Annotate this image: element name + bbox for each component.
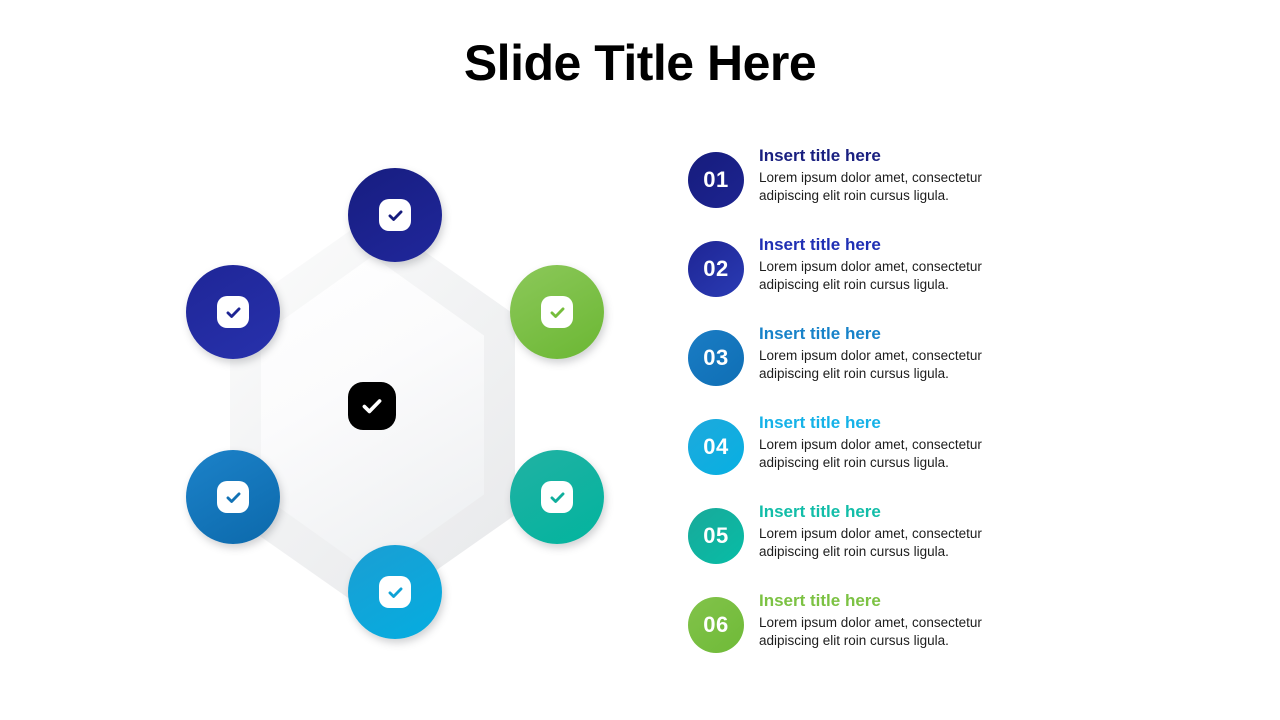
- item-title: Insert title here: [759, 145, 1044, 166]
- item-title: Insert title here: [759, 323, 1044, 344]
- item-title: Insert title here: [759, 234, 1044, 255]
- check-icon: [541, 481, 573, 513]
- list-item[interactable]: 03 Insert title here Lorem ipsum dolor a…: [688, 323, 1044, 412]
- list-item[interactable]: 01 Insert title here Lorem ipsum dolor a…: [688, 145, 1044, 234]
- hexagon-diagram: [155, 150, 635, 670]
- item-description: Lorem ipsum dolor amet, consectetur adip…: [759, 614, 1044, 650]
- list-item[interactable]: 02 Insert title here Lorem ipsum dolor a…: [688, 234, 1044, 323]
- list-item[interactable]: 05 Insert title here Lorem ipsum dolor a…: [688, 501, 1044, 590]
- item-number-badge: 06: [688, 597, 744, 653]
- hex-node-6[interactable]: [348, 545, 442, 639]
- item-description: Lorem ipsum dolor amet, consectetur adip…: [759, 347, 1044, 383]
- item-number-badge: 04: [688, 419, 744, 475]
- hex-node-2[interactable]: [186, 265, 280, 359]
- check-icon: [541, 296, 573, 328]
- item-title: Insert title here: [759, 501, 1044, 522]
- item-number-badge: 02: [688, 241, 744, 297]
- item-number-badge: 05: [688, 508, 744, 564]
- hex-node-4[interactable]: [186, 450, 280, 544]
- item-description: Lorem ipsum dolor amet, consectetur adip…: [759, 258, 1044, 294]
- check-icon: [217, 481, 249, 513]
- item-description: Lorem ipsum dolor amet, consectetur adip…: [759, 436, 1044, 472]
- item-description: Lorem ipsum dolor amet, consectetur adip…: [759, 525, 1044, 561]
- check-icon: [379, 199, 411, 231]
- items-list: 01 Insert title here Lorem ipsum dolor a…: [688, 145, 1044, 679]
- item-title: Insert title here: [759, 590, 1044, 611]
- item-number-badge: 03: [688, 330, 744, 386]
- hex-node-3[interactable]: [510, 265, 604, 359]
- page-title: Slide Title Here: [0, 36, 1280, 91]
- hex-node-1[interactable]: [348, 168, 442, 262]
- list-item[interactable]: 06 Insert title here Lorem ipsum dolor a…: [688, 590, 1044, 679]
- list-item[interactable]: 04 Insert title here Lorem ipsum dolor a…: [688, 412, 1044, 501]
- item-description: Lorem ipsum dolor amet, consectetur adip…: [759, 169, 1044, 205]
- item-number-badge: 01: [688, 152, 744, 208]
- item-title: Insert title here: [759, 412, 1044, 433]
- check-icon: [379, 576, 411, 608]
- center-check-icon: [348, 382, 396, 430]
- check-icon: [217, 296, 249, 328]
- hex-node-5[interactable]: [510, 450, 604, 544]
